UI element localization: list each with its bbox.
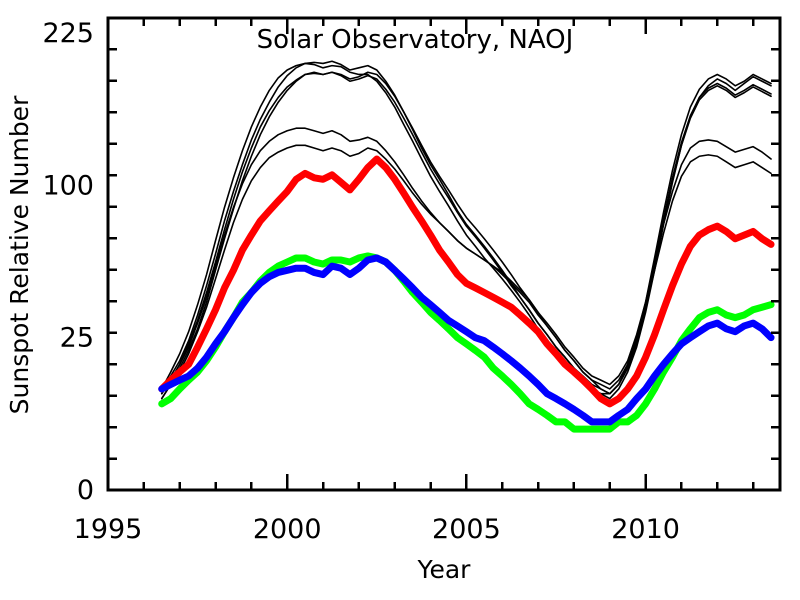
sunspot-line-chart: 1995200020052010 025100225 Solar Observa… (0, 0, 800, 600)
y-tick-label: 0 (77, 475, 94, 506)
y-tick-label: 225 (42, 18, 94, 49)
chart-background (0, 0, 800, 600)
chart-title: Solar Observatory, NAOJ (257, 25, 574, 55)
x-tick-label: 1995 (74, 514, 143, 545)
x-axis-title: Year (417, 555, 472, 584)
y-tick-label: 25 (60, 323, 94, 354)
chart-figure: 1995200020052010 025100225 Solar Observa… (0, 0, 800, 600)
x-tick-label: 2000 (253, 514, 322, 545)
y-axis-title: Sunspot Relative Number (5, 95, 34, 414)
x-tick-label: 2005 (432, 514, 501, 545)
x-tick-label: 2010 (611, 514, 680, 545)
y-tick-label: 100 (42, 170, 94, 201)
